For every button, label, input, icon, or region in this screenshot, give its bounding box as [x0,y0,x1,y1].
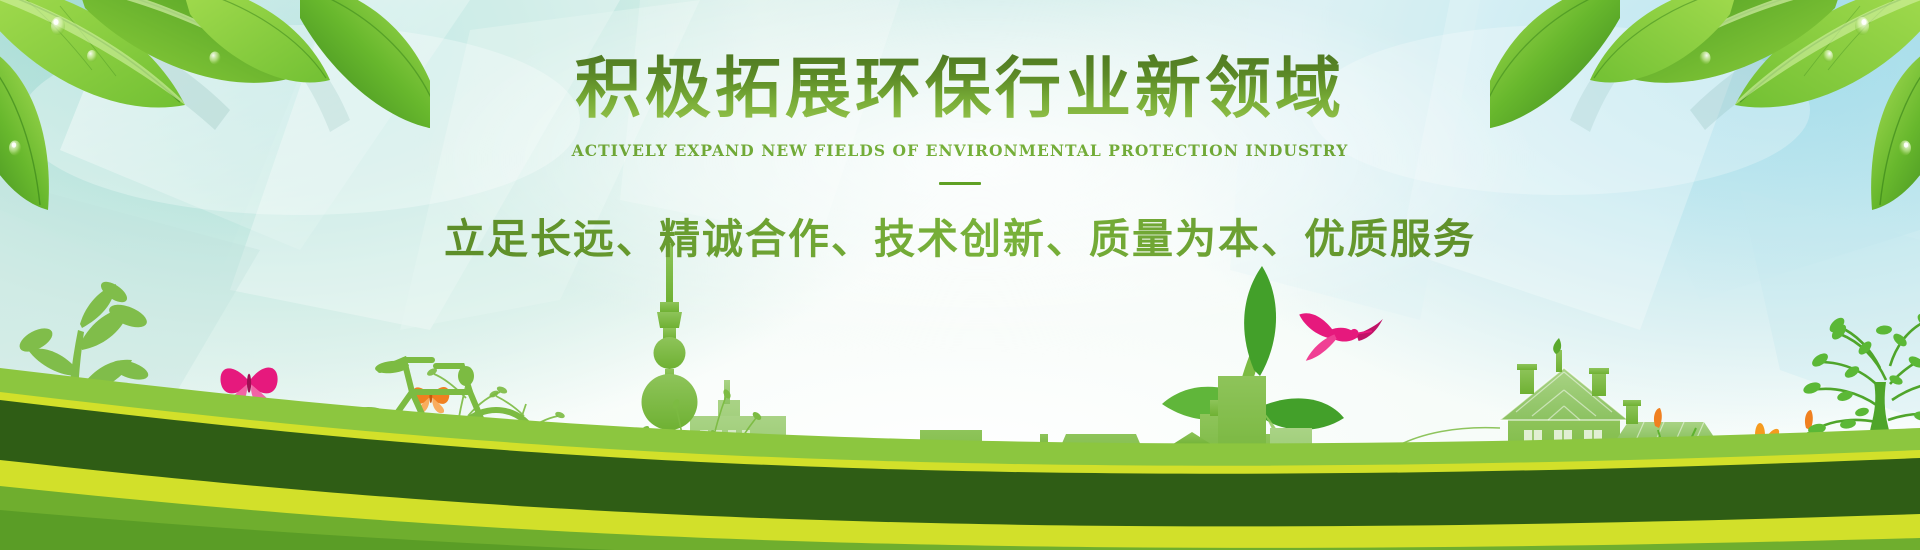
subtitle: ACTIVELY EXPAND NEW FIELDS OF ENVIRONMEN… [0,141,1920,160]
banner-text-block: 积极拓展环保行业新领域 ACTIVELY EXPAND NEW FIELDS O… [0,54,1920,265]
tagline: 立足长远、精诚合作、技术创新、质量为本、优质服务 [0,205,1920,265]
environmental-banner: 积极拓展环保行业新领域 ACTIVELY EXPAND NEW FIELDS O… [0,0,1920,550]
divider [939,182,981,185]
wave-icon [0,300,1920,550]
page-title: 积极拓展环保行业新领域 [0,54,1920,123]
